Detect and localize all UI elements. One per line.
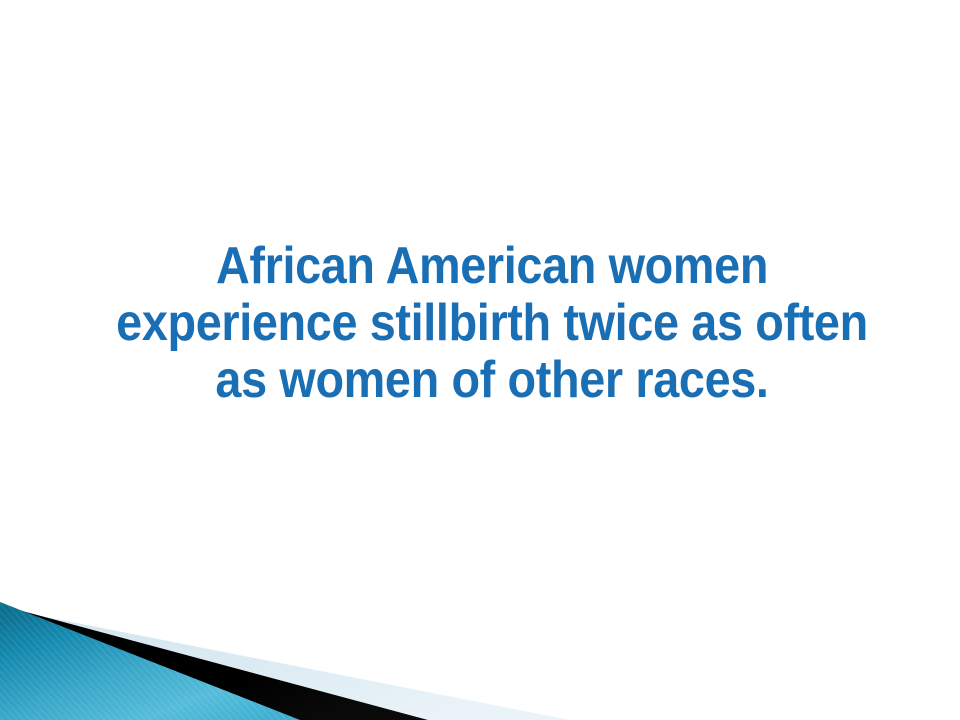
page-title: African American women experience stillb… xyxy=(103,238,881,409)
pale-blue-wedge xyxy=(0,608,570,720)
teal-gradient-wedge xyxy=(0,602,300,720)
slide-canvas: African American women experience stillb… xyxy=(0,0,960,720)
corner-decoration-svg xyxy=(0,590,620,720)
black-wedge xyxy=(0,605,428,720)
teal-wedge-texture xyxy=(0,602,300,720)
angles-corner-graphic xyxy=(0,590,620,720)
